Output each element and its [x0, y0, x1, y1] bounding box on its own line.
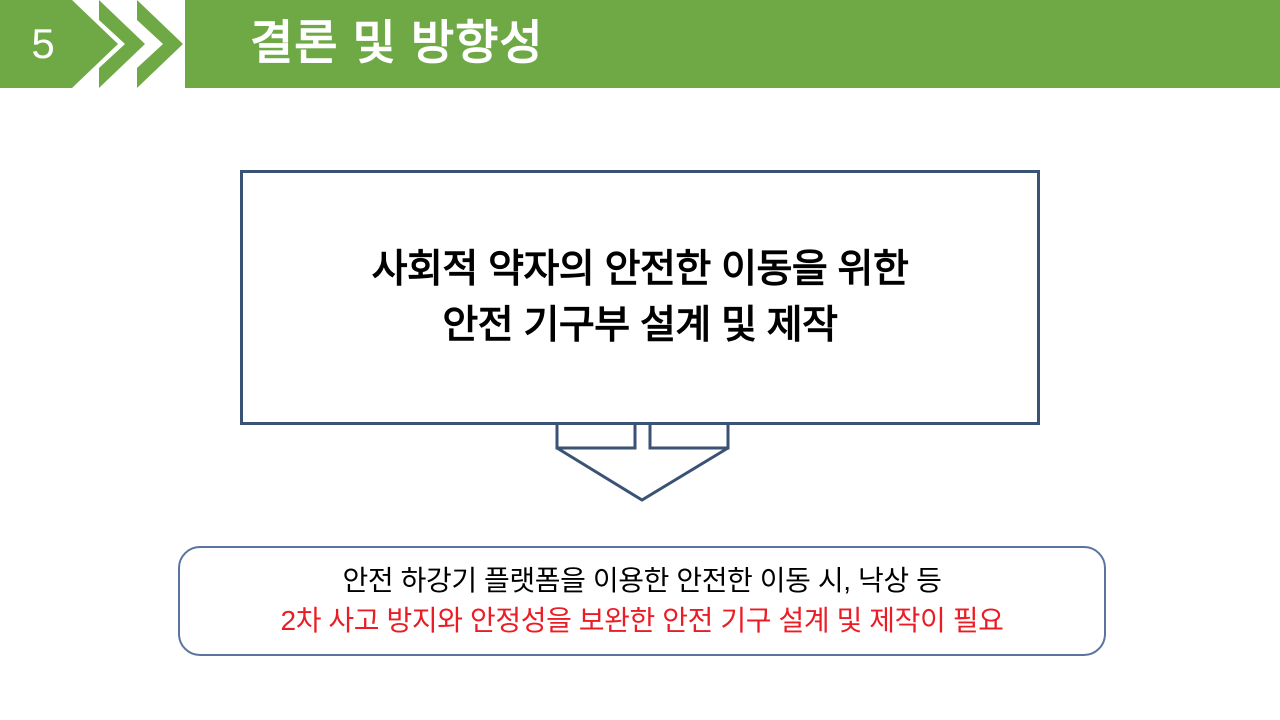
arrow-down-icon — [555, 420, 730, 510]
statement-text: 사회적 약자의 안전한 이동을 위한 안전 기구부 설계 및 제작 — [372, 242, 909, 353]
statement-line-2: 안전 기구부 설계 및 제작 — [372, 298, 909, 353]
flow-arrow-container — [555, 420, 730, 510]
slide-number: 5 — [0, 0, 86, 88]
page-title: 결론 및 방향성 — [250, 0, 544, 88]
conclusion-line-1: 안전 하강기 플랫폼을 이용한 안전한 이동 시, 낙상 등 — [343, 561, 942, 601]
conclusion-line-2-highlight: 2차 사고 방지와 안정성을 보완한 안전 기구 설계 및 제작이 필요 — [281, 601, 1004, 641]
statement-line-1: 사회적 약자의 안전한 이동을 위한 — [372, 242, 909, 297]
statement-box: 사회적 약자의 안전한 이동을 위한 안전 기구부 설계 및 제작 — [240, 170, 1040, 425]
conclusion-box: 안전 하강기 플랫폼을 이용한 안전한 이동 시, 낙상 등 2차 사고 방지와… — [178, 546, 1106, 656]
slide-header: 5 결론 및 방향성 — [0, 0, 1280, 88]
